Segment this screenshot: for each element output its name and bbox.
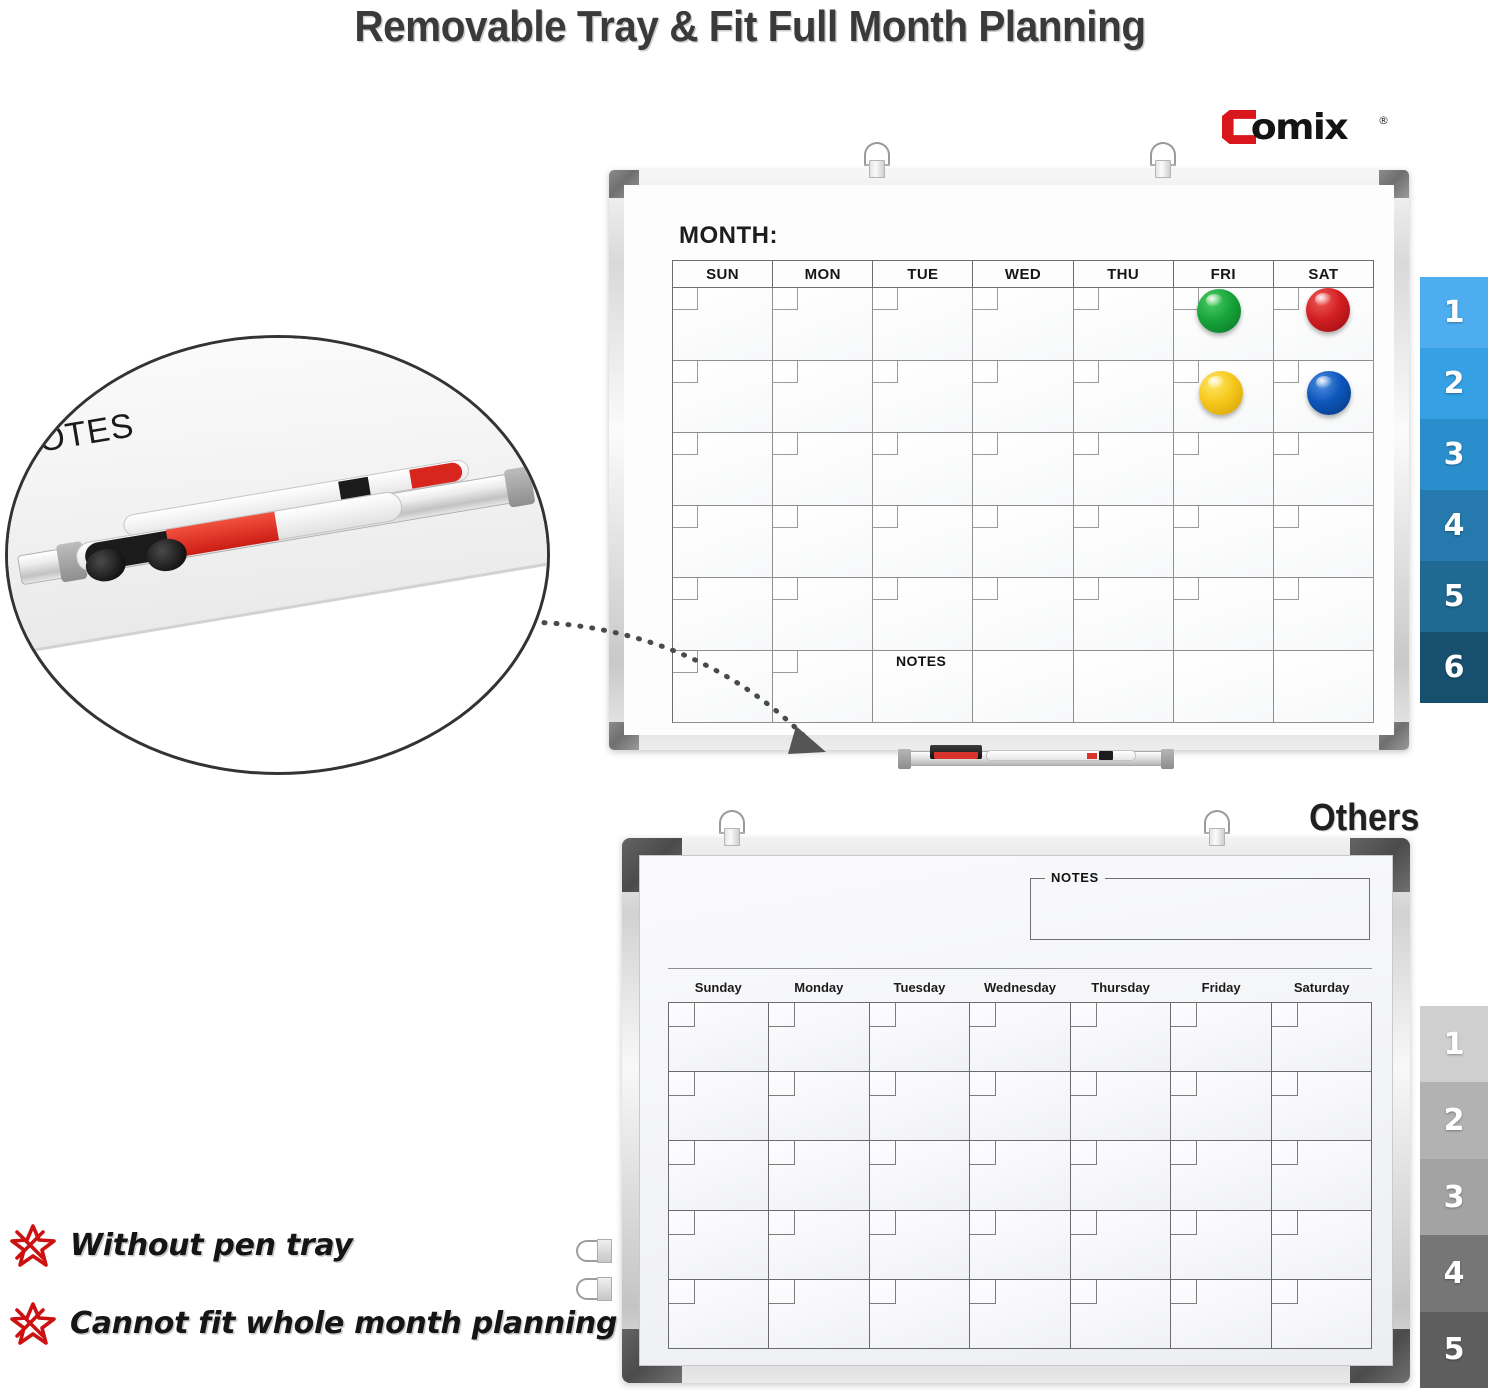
date-number-box xyxy=(1272,1211,1298,1235)
date-number-box xyxy=(773,578,798,600)
d-ring-hanger-left xyxy=(717,810,747,844)
date-number-box xyxy=(870,1072,896,1096)
others-day-header-monday: Monday xyxy=(769,974,870,1000)
callout-leader-line xyxy=(520,600,920,770)
date-number-box xyxy=(1272,1003,1298,1027)
date-number-box xyxy=(1071,1141,1097,1165)
date-number-box xyxy=(1171,1141,1197,1165)
date-number-box xyxy=(669,1211,695,1235)
gray-row-tab-2[interactable]: 2 xyxy=(1420,1082,1488,1158)
main-day-cell[interactable] xyxy=(973,651,1073,724)
date-number-box xyxy=(1174,361,1199,383)
date-number-box xyxy=(973,578,998,600)
others-day-header-row: SundayMondayTuesdayWednesdayThursdayFrid… xyxy=(668,974,1372,1000)
month-label: MONTH: xyxy=(679,222,778,250)
main-day-cell[interactable] xyxy=(673,433,773,506)
blue-row-tabs: 123456 xyxy=(1420,277,1488,703)
date-number-box xyxy=(1174,288,1199,310)
others-day-cell[interactable] xyxy=(669,1141,769,1210)
main-day-header-mon: MON xyxy=(773,261,873,288)
gray-row-tabs: 12345 xyxy=(1420,1006,1488,1388)
date-number-box xyxy=(669,1280,695,1304)
main-day-header-thu: THU xyxy=(1074,261,1174,288)
gray-row-tab-5[interactable]: 5 xyxy=(1420,1312,1488,1388)
date-number-box xyxy=(773,361,798,383)
date-number-box xyxy=(769,1280,795,1304)
main-day-cell[interactable] xyxy=(1074,433,1174,506)
others-whiteboard: NOTES SundayMondayTuesdayWednesdayThursd… xyxy=(622,838,1410,1383)
others-day-cell[interactable] xyxy=(1071,1003,1171,1072)
main-day-cell[interactable] xyxy=(873,361,973,434)
main-day-cell[interactable] xyxy=(1074,578,1174,651)
main-day-cell[interactable] xyxy=(1174,433,1274,506)
date-number-box xyxy=(1274,506,1299,528)
blue-row-tab-1[interactable]: 1 xyxy=(1420,277,1488,348)
main-day-cell[interactable] xyxy=(673,361,773,434)
date-number-box xyxy=(1274,433,1299,455)
others-day-cell[interactable] xyxy=(970,1211,1070,1280)
main-day-header-tue: TUE xyxy=(873,261,973,288)
main-day-cell[interactable] xyxy=(973,433,1073,506)
date-number-box xyxy=(673,433,698,455)
date-number-box xyxy=(873,506,898,528)
blue-row-tab-2[interactable]: 2 xyxy=(1420,348,1488,419)
main-day-cell[interactable] xyxy=(973,578,1073,651)
date-number-box xyxy=(1171,1211,1197,1235)
date-number-box xyxy=(870,1211,896,1235)
drawback-text: Without pen tray xyxy=(70,1228,353,1263)
main-day-header-sat: SAT xyxy=(1274,261,1374,288)
main-day-cell[interactable] xyxy=(673,506,773,579)
date-number-box xyxy=(669,1072,695,1096)
date-number-box xyxy=(1274,288,1299,310)
main-day-cell[interactable] xyxy=(1174,651,1274,724)
date-number-box xyxy=(673,361,698,383)
date-number-box xyxy=(973,433,998,455)
date-number-box xyxy=(1174,433,1199,455)
date-number-box xyxy=(773,433,798,455)
dry-erase-marker xyxy=(986,750,1136,761)
date-number-box xyxy=(970,1141,996,1165)
main-day-cell[interactable] xyxy=(1074,361,1174,434)
red-x-star-icon xyxy=(10,1222,56,1268)
main-day-cell[interactable] xyxy=(873,433,973,506)
main-day-header-fri: FRI xyxy=(1174,261,1274,288)
others-day-cell[interactable] xyxy=(1071,1280,1171,1349)
date-number-box xyxy=(769,1003,795,1027)
main-day-header-wed: WED xyxy=(973,261,1073,288)
pen-tray-detail-callout: OTES xyxy=(5,335,550,775)
blue-row-tab-5[interactable]: 5 xyxy=(1420,561,1488,632)
others-day-cell[interactable] xyxy=(970,1003,1070,1072)
blue-row-tab-3[interactable]: 3 xyxy=(1420,419,1488,490)
date-number-box xyxy=(870,1003,896,1027)
others-day-cell[interactable] xyxy=(870,1280,970,1349)
date-number-box xyxy=(769,1141,795,1165)
others-day-header-thursday: Thursday xyxy=(1070,974,1171,1000)
others-day-cell[interactable] xyxy=(970,1141,1070,1210)
main-day-cell[interactable] xyxy=(1074,651,1174,724)
others-day-cell[interactable] xyxy=(769,1211,869,1280)
date-number-box xyxy=(1074,578,1099,600)
side-ring-hanger-upper xyxy=(578,1239,612,1265)
others-day-cell[interactable] xyxy=(970,1280,1070,1349)
date-number-box xyxy=(1272,1072,1298,1096)
date-number-box xyxy=(973,361,998,383)
main-day-cell[interactable] xyxy=(1074,288,1174,361)
main-day-cell[interactable] xyxy=(1274,651,1374,724)
gray-row-tab-3[interactable]: 3 xyxy=(1420,1159,1488,1235)
others-day-cell[interactable] xyxy=(669,1072,769,1141)
others-calendar-grid xyxy=(668,1002,1372,1349)
date-number-box xyxy=(673,506,698,528)
hanger-plate xyxy=(724,828,740,846)
main-day-cell[interactable] xyxy=(1074,506,1174,579)
others-day-cell[interactable] xyxy=(1071,1211,1171,1280)
others-notes-box: NOTES xyxy=(1030,878,1370,940)
others-divider xyxy=(668,968,1372,969)
others-day-cell[interactable] xyxy=(870,1141,970,1210)
others-day-cell[interactable] xyxy=(1171,1141,1271,1210)
others-day-cell[interactable] xyxy=(1272,1280,1372,1349)
others-notes-label: NOTES xyxy=(1045,870,1105,885)
blue-row-tab-4[interactable]: 4 xyxy=(1420,490,1488,561)
others-day-cell[interactable] xyxy=(669,1003,769,1072)
page-title: Removable Tray & Fit Full Month Planning xyxy=(60,2,1440,52)
others-day-cell[interactable] xyxy=(769,1280,869,1349)
date-number-box xyxy=(970,1003,996,1027)
date-number-box xyxy=(773,506,798,528)
date-number-box xyxy=(1071,1280,1097,1304)
others-day-cell[interactable] xyxy=(870,1072,970,1141)
drawback-text: Cannot fit whole month planning xyxy=(70,1306,617,1341)
date-number-box xyxy=(773,288,798,310)
gray-row-tab-4[interactable]: 4 xyxy=(1420,1235,1488,1311)
d-ring-hanger-right xyxy=(1202,810,1232,844)
blue-row-tab-6[interactable]: 6 xyxy=(1420,632,1488,703)
hanger-plate xyxy=(1209,828,1225,846)
magnet-yellow[interactable] xyxy=(1199,371,1243,415)
others-day-cell[interactable] xyxy=(669,1280,769,1349)
others-day-header-sunday: Sunday xyxy=(668,974,769,1000)
others-day-cell[interactable] xyxy=(669,1211,769,1280)
others-day-cell[interactable] xyxy=(1272,1141,1372,1210)
date-number-box xyxy=(1074,433,1099,455)
comix-wordmark: omix xyxy=(1251,107,1347,148)
main-day-cell[interactable] xyxy=(873,288,973,361)
others-day-header-saturday: Saturday xyxy=(1271,974,1372,1000)
magnet-blue[interactable] xyxy=(1307,371,1351,415)
others-day-cell[interactable] xyxy=(870,1211,970,1280)
date-number-box xyxy=(1071,1072,1097,1096)
main-day-cell[interactable] xyxy=(1274,433,1374,506)
date-number-box xyxy=(1171,1280,1197,1304)
hanger-plate xyxy=(1155,160,1171,178)
date-number-box xyxy=(873,433,898,455)
others-day-cell[interactable] xyxy=(1272,1211,1372,1280)
d-ring-hanger-left xyxy=(862,142,892,176)
gray-row-tab-1[interactable]: 1 xyxy=(1420,1006,1488,1082)
date-number-box xyxy=(970,1211,996,1235)
date-number-box xyxy=(1171,1072,1197,1096)
others-day-cell[interactable] xyxy=(1171,1211,1271,1280)
date-number-box xyxy=(1174,506,1199,528)
date-number-box xyxy=(669,1141,695,1165)
date-number-box xyxy=(1074,361,1099,383)
d-ring-hanger-right xyxy=(1148,142,1178,176)
date-number-box xyxy=(1074,506,1099,528)
pen-tray-endcap-right xyxy=(1161,749,1174,769)
date-number-box xyxy=(873,361,898,383)
main-day-cell[interactable] xyxy=(773,506,873,579)
others-day-cell[interactable] xyxy=(870,1003,970,1072)
others-day-cell[interactable] xyxy=(769,1003,869,1072)
date-number-box xyxy=(870,1280,896,1304)
date-number-box xyxy=(1074,288,1099,310)
date-number-box xyxy=(769,1211,795,1235)
date-number-box xyxy=(1171,1003,1197,1027)
date-number-box xyxy=(1272,1141,1298,1165)
main-day-cell[interactable] xyxy=(1274,506,1374,579)
others-day-header-friday: Friday xyxy=(1171,974,1272,1000)
main-day-cell[interactable] xyxy=(873,506,973,579)
others-day-cell[interactable] xyxy=(1071,1141,1171,1210)
main-day-cell[interactable] xyxy=(973,506,1073,579)
date-number-box xyxy=(1274,578,1299,600)
others-day-header-tuesday: Tuesday xyxy=(869,974,970,1000)
registered-trademark-symbol: ® xyxy=(1378,114,1389,127)
date-number-box xyxy=(673,578,698,600)
others-day-cell[interactable] xyxy=(1171,1280,1271,1349)
magnet-green[interactable] xyxy=(1197,289,1241,333)
main-day-cell[interactable] xyxy=(673,288,773,361)
others-day-cell[interactable] xyxy=(970,1072,1070,1141)
others-label: Others xyxy=(1309,797,1419,840)
magnet-red[interactable] xyxy=(1306,288,1350,332)
drawback-item-1: Without pen tray xyxy=(10,1222,353,1268)
others-day-cell[interactable] xyxy=(769,1141,869,1210)
main-day-header-sun: SUN xyxy=(673,261,773,288)
whiteboard-eraser xyxy=(930,745,982,759)
main-day-cell[interactable] xyxy=(973,361,1073,434)
date-number-box xyxy=(669,1003,695,1027)
hanger-plate xyxy=(869,160,885,178)
date-number-box xyxy=(970,1280,996,1304)
others-day-cell[interactable] xyxy=(1071,1072,1171,1141)
main-day-cell[interactable] xyxy=(773,288,873,361)
others-board-surface: NOTES SundayMondayTuesdayWednesdayThursd… xyxy=(639,855,1393,1366)
date-number-box xyxy=(1174,578,1199,600)
others-day-header-wednesday: Wednesday xyxy=(970,974,1071,1000)
others-day-cell[interactable] xyxy=(1272,1072,1372,1141)
comix-logo: omix ® xyxy=(1222,108,1402,148)
removable-pen-tray[interactable] xyxy=(900,745,1172,769)
date-number-box xyxy=(873,288,898,310)
others-day-cell[interactable] xyxy=(1171,1072,1271,1141)
main-day-cell[interactable] xyxy=(1174,506,1274,579)
red-x-star-icon xyxy=(10,1300,56,1346)
date-number-box xyxy=(769,1072,795,1096)
main-day-cell[interactable] xyxy=(1174,578,1274,651)
main-day-cell[interactable] xyxy=(773,433,873,506)
main-day-cell[interactable] xyxy=(1274,578,1374,651)
date-number-box xyxy=(970,1072,996,1096)
date-number-box xyxy=(973,506,998,528)
drawback-item-2: Cannot fit whole month planning xyxy=(10,1300,617,1346)
date-number-box xyxy=(1272,1280,1298,1304)
date-number-box xyxy=(1274,361,1299,383)
date-number-box xyxy=(673,288,698,310)
date-number-box xyxy=(1071,1003,1097,1027)
main-day-cell[interactable] xyxy=(773,361,873,434)
date-number-box xyxy=(870,1141,896,1165)
others-day-cell[interactable] xyxy=(1171,1003,1271,1072)
date-number-box xyxy=(973,288,998,310)
date-number-box xyxy=(873,578,898,600)
main-day-cell[interactable] xyxy=(973,288,1073,361)
others-day-cell[interactable] xyxy=(1272,1003,1372,1072)
others-day-cell[interactable] xyxy=(769,1072,869,1141)
date-number-box xyxy=(1071,1211,1097,1235)
